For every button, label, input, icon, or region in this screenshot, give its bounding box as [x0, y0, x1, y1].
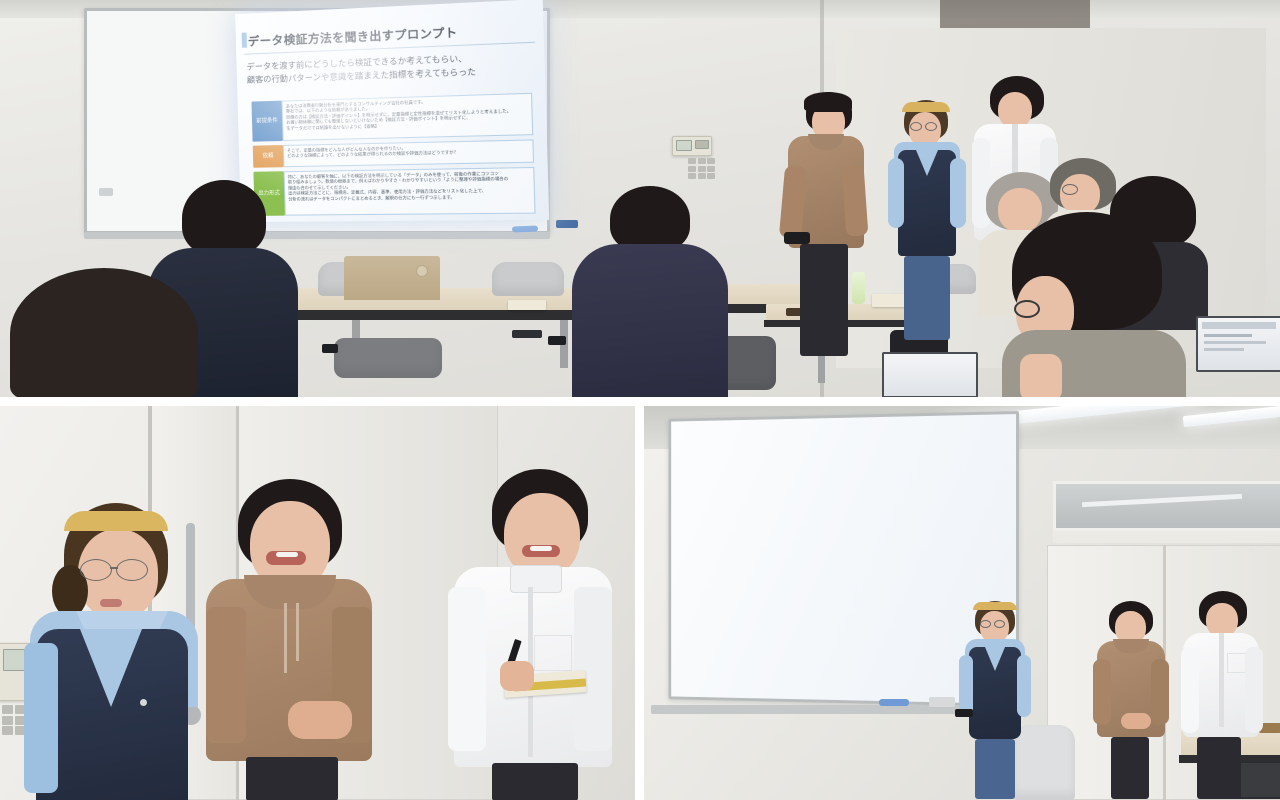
notebook [508, 300, 546, 310]
hands-clasped [288, 701, 352, 739]
legs [1197, 737, 1241, 799]
glasses-right [116, 559, 148, 581]
arm-right [842, 165, 869, 236]
slide1-row-tag: 前提条件 [251, 101, 282, 142]
presentation-remote[interactable] [784, 232, 810, 244]
keypad-key[interactable] [2, 726, 13, 735]
browser-toolbar [1202, 322, 1276, 329]
teeth [530, 546, 552, 551]
slide1-row-tag: 依頼 [253, 145, 284, 168]
jeans [975, 739, 1015, 799]
slide1-row-body: あなたは消費者行動分析を専門とするコンサルティング会社の社員です。 弊社では、以… [282, 93, 534, 141]
laptop-screen[interactable] [1196, 316, 1280, 372]
presenter-vest [961, 601, 1029, 800]
hoodie-drawstring [284, 603, 287, 673]
audience-member-back [572, 186, 728, 397]
glasses-right [925, 122, 937, 131]
hoodie-drawstring [296, 603, 299, 661]
keypad-key[interactable] [688, 173, 696, 179]
hair [10, 268, 198, 397]
screen-text-line [1204, 348, 1244, 351]
glasses-right [994, 620, 1005, 628]
jeans [904, 256, 950, 340]
smartphone[interactable] [512, 330, 542, 338]
glasses-left [980, 620, 991, 628]
smartphone[interactable] [322, 344, 338, 353]
legs [800, 244, 848, 356]
arm-left [24, 643, 58, 793]
arm-right [574, 587, 612, 751]
hair [182, 180, 266, 256]
smartphone[interactable] [548, 336, 566, 345]
whiteboard-magnet [99, 188, 113, 196]
band-collar [510, 565, 562, 593]
face [998, 92, 1032, 128]
hand [500, 661, 534, 691]
ac-control-panel[interactable] [672, 136, 712, 156]
presenter-hoodie-smiling [206, 479, 372, 800]
audience-member-foreground [0, 268, 210, 397]
presenter-white-shirt [1183, 591, 1261, 800]
shirt-placket [1219, 633, 1224, 727]
slide1-row-body: そこで、定量の指標をどんな人がどんな人なのかを作りたい。 どのような指標によって… [283, 139, 534, 167]
legs [492, 763, 578, 800]
arm-left [959, 655, 973, 717]
hair-band [973, 602, 1017, 610]
window-sill [1053, 531, 1280, 543]
arm-right [950, 158, 966, 228]
presenter-hoodie [782, 92, 868, 360]
legs [1111, 737, 1149, 799]
control-panel-keypad[interactable] [688, 158, 715, 179]
presenter-hoodie [1095, 601, 1167, 800]
slide1-accent-bar [242, 33, 247, 48]
panel-divider-vertical [635, 397, 644, 800]
hand [1020, 354, 1062, 397]
keypad-key[interactable] [688, 166, 696, 172]
keypad-key[interactable] [698, 158, 706, 164]
desk-edge [292, 310, 610, 320]
presentation-remote[interactable] [955, 709, 973, 717]
keypad-key[interactable] [698, 166, 706, 172]
keypad-key[interactable] [688, 158, 696, 164]
control-panel-display [676, 140, 692, 151]
slide1-row: 前提条件 あなたは消費者行動分析を専門とするコンサルティング会社の社員です。 弊… [251, 93, 533, 142]
keypad-key[interactable] [698, 173, 706, 179]
door-header [940, 0, 1090, 28]
hair [610, 186, 690, 252]
presenter-vest [888, 100, 966, 340]
control-panel-display-secondary [695, 140, 709, 149]
glasses-left [80, 559, 112, 581]
mouth [100, 599, 122, 607]
presenter-vest-smiling [24, 503, 204, 800]
audience-member-foreground-glasses [1002, 212, 1182, 397]
slide1-row: 依頼 そこで、定量の指標をどんな人がどんな人なのかを作りたい。 どのような指標に… [253, 139, 534, 167]
arm-left [888, 158, 904, 228]
arm-left [1181, 647, 1199, 733]
torso [572, 244, 728, 397]
shirt-pocket [534, 635, 572, 671]
laptop-screen[interactable] [882, 352, 978, 397]
legs [246, 757, 338, 800]
chair [334, 338, 442, 378]
whiteboard-marker [879, 699, 909, 706]
panel-top-presentation: データ検証方法を聞き出すプロンプト データを渡す前にどうしたら検証できるか考えて… [0, 0, 1280, 397]
window-reflection [1082, 494, 1242, 507]
arm-right [1151, 659, 1169, 725]
screen-text-line [1204, 341, 1266, 344]
face [1206, 603, 1238, 637]
hair-top [804, 92, 852, 112]
arm-right [1017, 655, 1031, 717]
laptop[interactable] [344, 256, 440, 300]
hands-clasped [1121, 713, 1151, 729]
slide1-row-body: 特に、あなたの顧客を軸に、以下の検証方法を明示している「データ」のみを使って、前… [284, 167, 536, 216]
slide1-title: データ検証方法を聞き出すプロンプト [248, 21, 533, 50]
chair [492, 262, 564, 296]
keypad-key[interactable] [2, 705, 13, 714]
panel-bottom-right-whiteboard: ChatGPTを最大限応用するために 問いに唯一の答えが無い場合、役割や目的・情… [643, 405, 1280, 800]
panel-bottom-left-presenters [0, 405, 635, 800]
keypad-key[interactable] [707, 158, 715, 164]
vest-pin [140, 699, 147, 706]
laptop-sticker [416, 265, 428, 277]
keypad-key[interactable] [707, 166, 715, 172]
hair-band [902, 102, 950, 112]
teeth [276, 552, 298, 557]
arm-right [1245, 647, 1263, 733]
arm-left [1093, 659, 1111, 725]
screen-text-line [1204, 334, 1252, 337]
glasses [1014, 300, 1040, 318]
transom-window [1053, 481, 1280, 531]
presenter-white-shirt-notebook [448, 469, 616, 800]
keypad-key[interactable] [2, 716, 13, 725]
glasses-left [1062, 184, 1078, 195]
photo-collage: データ検証方法を聞き出すプロンプト データを渡す前にどうしたら検証できるか考えて… [0, 0, 1280, 800]
keypad-key[interactable] [707, 173, 715, 179]
hair-band [64, 511, 168, 531]
whiteboard-marker [512, 226, 538, 233]
glasses-left [910, 122, 922, 131]
glasses-bridge [110, 567, 118, 569]
arm-left [206, 607, 246, 743]
arm-left [448, 587, 486, 751]
whiteboard-eraser [929, 697, 955, 707]
